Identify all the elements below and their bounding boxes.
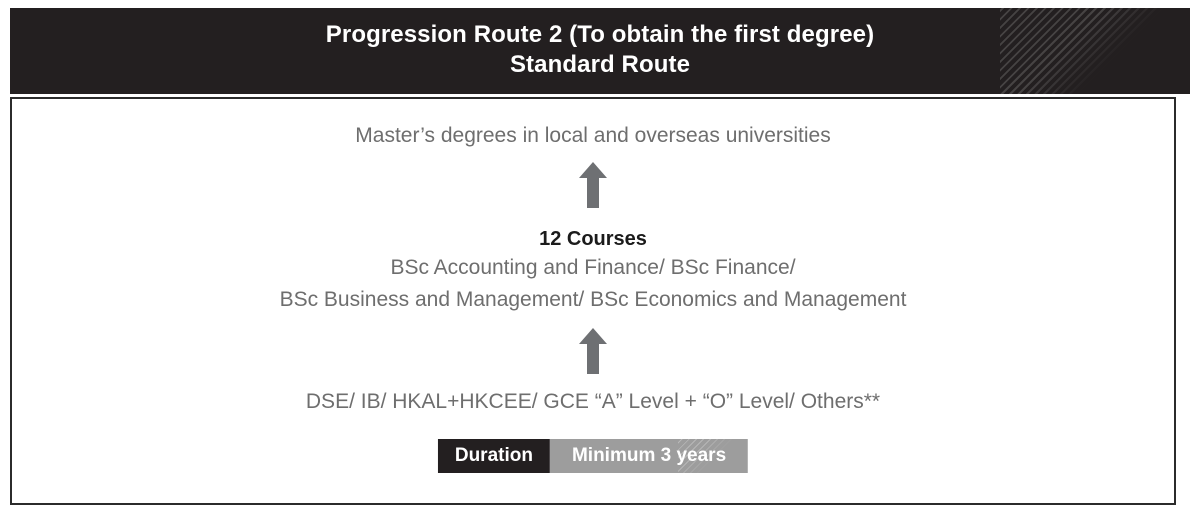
flow-step-programme-heading: 12 Courses <box>12 224 1174 254</box>
duration-badge-value-text: Minimum 3 years <box>572 445 726 466</box>
page-title: Progression Route 2 (To obtain the first… <box>10 8 1190 80</box>
flow-step-programme-line-1: BSc Accounting and Finance/ BSc Finance/ <box>12 253 1174 283</box>
duration-badge-value: Minimum 3 years <box>550 439 748 473</box>
header-bar: Progression Route 2 (To obtain the first… <box>10 8 1190 94</box>
flow-step-programme-line-2: BSc Business and Management/ BSc Economi… <box>12 285 1174 315</box>
duration-badge-label: Duration <box>438 439 550 473</box>
up-arrow-icon-upper <box>578 161 608 209</box>
flow-step-entry-requirements: DSE/ IB/ HKAL+HKCEE/ GCE “A” Level + “O”… <box>12 387 1174 417</box>
progression-flow: Master’s degrees in local and overseas u… <box>12 99 1174 503</box>
content-panel: Master’s degrees in local and overseas u… <box>10 97 1176 505</box>
flow-step-masters-degrees: Master’s degrees in local and overseas u… <box>12 121 1174 151</box>
up-arrow-icon-lower <box>578 327 608 375</box>
progression-route-infographic: Progression Route 2 (To obtain the first… <box>0 0 1200 514</box>
duration-badge: Duration Minimum 3 years <box>438 439 748 473</box>
page-title-line-2: Standard Route <box>10 50 1190 80</box>
page-title-line-1: Progression Route 2 (To obtain the first… <box>326 21 874 48</box>
